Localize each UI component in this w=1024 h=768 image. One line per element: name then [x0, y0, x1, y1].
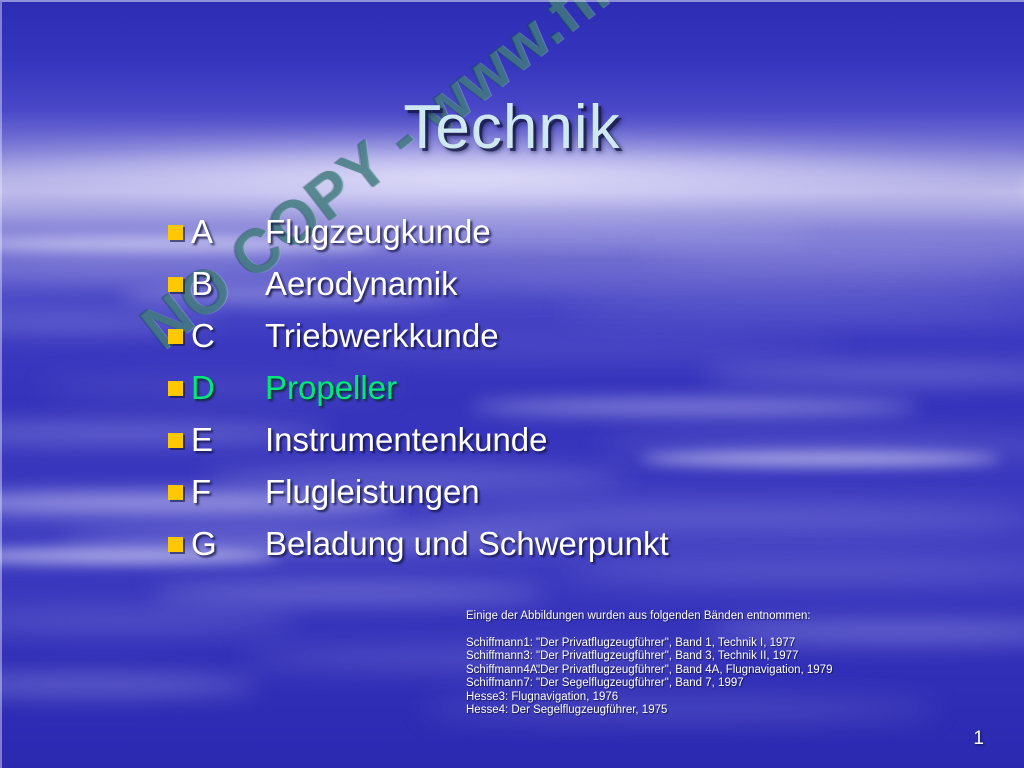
- agenda-item-label: Aerodynamik: [265, 265, 458, 303]
- agenda-item-label: Instrumentenkunde: [265, 421, 548, 459]
- bullet-square-icon: [168, 485, 183, 500]
- agenda-item-label: Flugzeugkunde: [265, 213, 491, 251]
- source-notes: Einige der Abbildungen wurden aus folgen…: [466, 610, 832, 718]
- agenda-item-letter: B: [191, 265, 265, 303]
- source-reference-key: Schiffmann1:: [466, 637, 536, 651]
- source-reference-key: Schiffmann7:: [466, 677, 536, 691]
- agenda-item-letter: F: [191, 473, 265, 511]
- agenda-item-b[interactable]: BAerodynamik: [168, 258, 928, 310]
- source-reference-key: Schiffmann4A:: [466, 664, 536, 678]
- bullet-square-icon: [168, 225, 183, 240]
- agenda-item-letter: E: [191, 421, 265, 459]
- slide-title: Technik: [0, 92, 1024, 163]
- source-reference-key: Schiffmann3:: [466, 650, 536, 664]
- source-reference-list: Schiffmann1:"Der Privatflugzeugführer", …: [466, 637, 832, 718]
- source-reference-row: Schiffmann4A:"Der Privatflugzeugführer",…: [466, 664, 832, 678]
- presentation-slide: NO COPY - www.fliegerbreu.de Technik AFl…: [0, 0, 1024, 768]
- agenda-item-f[interactable]: FFlugleistungen: [168, 466, 928, 518]
- source-reference-row: Hesse3: Flugnavigation, 1976: [466, 691, 832, 705]
- source-reference-row: Schiffmann7:"Der Segelflugzeugführer", B…: [466, 677, 832, 691]
- agenda-item-g[interactable]: GBeladung und Schwerpunkt: [168, 518, 928, 570]
- source-reference-value: "Der Privatflugzeugführer", Band 3, Tech…: [536, 650, 798, 664]
- bullet-square-icon: [168, 329, 183, 344]
- agenda-item-letter: C: [191, 317, 265, 355]
- source-reference-row: Schiffmann1:"Der Privatflugzeugführer", …: [466, 637, 832, 651]
- agenda-item-c[interactable]: CTriebwerkkunde: [168, 310, 928, 362]
- agenda-item-d[interactable]: DPropeller: [168, 362, 928, 414]
- agenda-item-label: Propeller: [265, 369, 397, 407]
- bullet-square-icon: [168, 433, 183, 448]
- source-reference-value: "Der Privatflugzeugführer", Band 1, Tech…: [536, 637, 795, 651]
- source-reference-row: Hesse4: Der Segelflugzeugführer, 1975: [466, 704, 832, 718]
- agenda-list: AFlugzeugkundeBAerodynamikCTriebwerkkund…: [168, 206, 928, 570]
- agenda-item-letter: D: [191, 369, 265, 407]
- agenda-item-label: Beladung und Schwerpunkt: [265, 525, 669, 563]
- agenda-item-e[interactable]: EInstrumentenkunde: [168, 414, 928, 466]
- agenda-item-label: Flugleistungen: [265, 473, 480, 511]
- bullet-square-icon: [168, 537, 183, 552]
- agenda-item-label: Triebwerkkunde: [265, 317, 499, 355]
- page-number: 1: [973, 728, 984, 750]
- bullet-square-icon: [168, 381, 183, 396]
- agenda-item-a[interactable]: AFlugzeugkunde: [168, 206, 928, 258]
- source-reference-row: Schiffmann3:"Der Privatflugzeugführer", …: [466, 650, 832, 664]
- agenda-item-letter: A: [191, 213, 265, 251]
- bullet-square-icon: [168, 277, 183, 292]
- source-notes-intro: Einige der Abbildungen wurden aus folgen…: [466, 610, 832, 624]
- source-reference-value: "Der Segelflugzeugführer", Band 7, 1997: [536, 677, 744, 691]
- agenda-item-letter: G: [191, 525, 265, 563]
- source-reference-value: "Der Privatflugzeugführer", Band 4A, Flu…: [536, 664, 832, 678]
